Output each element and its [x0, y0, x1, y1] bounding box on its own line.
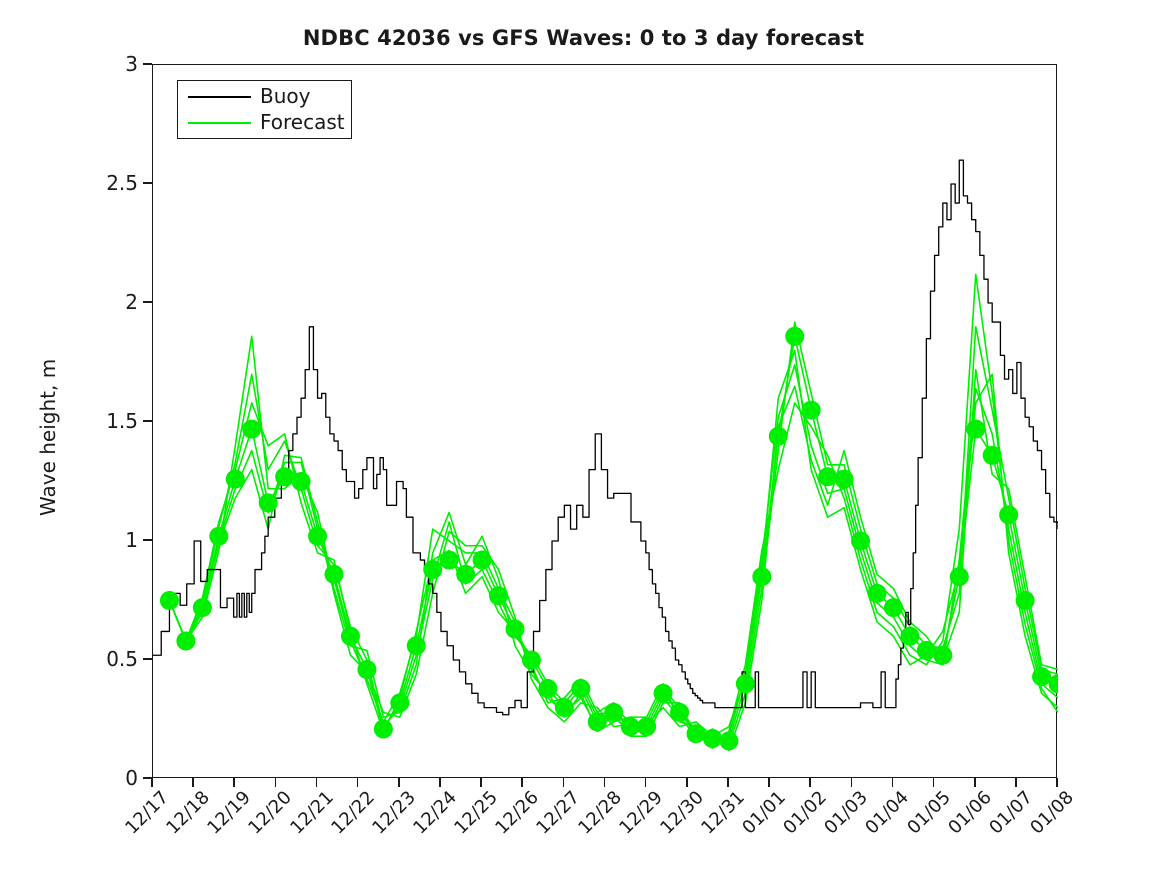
forecast-data-point	[719, 731, 738, 750]
x-tickmark	[1015, 778, 1017, 787]
y-tickmark	[143, 420, 152, 422]
y-tick-label: 1	[78, 528, 138, 552]
forecast-data-point	[736, 674, 755, 693]
x-tickmark	[933, 778, 935, 787]
figure-canvas: NDBC 42036 vs GFS Waves: 0 to 3 day fore…	[0, 0, 1167, 875]
forecast-data-point	[933, 646, 952, 665]
forecast-data-point	[950, 567, 969, 586]
plot-area	[152, 64, 1057, 778]
legend-box: Buoy Forecast	[177, 80, 352, 139]
x-tickmark	[974, 778, 976, 787]
forecast-data-point	[226, 470, 245, 489]
forecast-data-point	[308, 527, 327, 546]
forecast-data-point	[785, 327, 804, 346]
forecast-data-point	[654, 684, 673, 703]
x-tickmark	[604, 778, 606, 787]
x-tickmark	[851, 778, 853, 787]
buoy-series-group	[153, 160, 1058, 715]
y-axis-label: Wave height, m	[36, 359, 60, 516]
forecast-data-point	[176, 631, 195, 650]
legend-swatch-forecast	[188, 122, 251, 124]
forecast-data-point	[687, 724, 706, 743]
forecast-line-path	[169, 365, 1058, 743]
x-tickmark	[398, 778, 400, 787]
forecast-marker-group	[160, 327, 1058, 751]
x-tickmark	[645, 778, 647, 787]
legend-swatch-buoy	[188, 96, 251, 98]
forecast-series-group	[169, 274, 1058, 750]
y-tick-label: 0	[78, 766, 138, 790]
x-tickmark	[727, 778, 729, 787]
x-tickmark	[768, 778, 770, 787]
legend-entry-forecast: Forecast	[178, 110, 353, 136]
y-tick-label: 3	[78, 52, 138, 76]
x-tickmark	[686, 778, 688, 787]
forecast-data-point	[341, 627, 360, 646]
forecast-data-point	[357, 660, 376, 679]
forecast-data-point	[423, 560, 442, 579]
forecast-data-point	[242, 420, 261, 439]
chart-title: NDBC 42036 vs GFS Waves: 0 to 3 day fore…	[0, 26, 1167, 50]
y-tickmark	[143, 539, 152, 541]
forecast-data-point	[604, 703, 623, 722]
forecast-data-point	[440, 551, 459, 570]
forecast-data-point	[325, 565, 344, 584]
forecast-data-point	[374, 720, 393, 739]
forecast-data-point	[769, 427, 788, 446]
forecast-line-path	[169, 336, 1058, 741]
forecast-data-point	[1032, 667, 1051, 686]
forecast-data-point	[621, 717, 640, 736]
x-tickmark	[192, 778, 194, 787]
forecast-data-point	[160, 591, 179, 610]
forecast-data-point	[555, 698, 574, 717]
x-tickmark	[233, 778, 235, 787]
x-tickmark	[892, 778, 894, 787]
forecast-data-point	[983, 446, 1002, 465]
y-tickmark	[143, 658, 152, 660]
forecast-data-point	[637, 717, 656, 736]
forecast-data-point	[209, 527, 228, 546]
y-tickmark	[143, 63, 152, 65]
forecast-data-point	[588, 712, 607, 731]
x-tickmark	[357, 778, 359, 787]
forecast-data-point	[1016, 591, 1035, 610]
x-tickmark	[316, 778, 318, 787]
forecast-data-point	[538, 679, 557, 698]
plot-canvas	[153, 65, 1058, 779]
x-tickmark	[151, 778, 153, 787]
forecast-data-point	[571, 679, 590, 698]
forecast-data-point	[802, 401, 821, 420]
forecast-data-point	[259, 493, 278, 512]
buoy-line-path	[153, 160, 1058, 715]
forecast-line-path	[169, 370, 1058, 751]
forecast-data-point	[407, 636, 426, 655]
forecast-data-point	[703, 729, 722, 748]
forecast-data-point	[884, 598, 903, 617]
forecast-data-point	[670, 703, 689, 722]
y-tickmark	[143, 301, 152, 303]
y-tick-label: 2.5	[78, 171, 138, 195]
forecast-data-point	[456, 565, 475, 584]
forecast-data-point	[292, 472, 311, 491]
forecast-data-point	[193, 598, 212, 617]
forecast-data-point	[999, 505, 1018, 524]
x-tickmark	[1056, 778, 1058, 787]
forecast-data-point	[489, 586, 508, 605]
forecast-data-point	[522, 651, 541, 670]
y-tickmark	[143, 777, 152, 779]
legend-entry-buoy: Buoy	[178, 84, 353, 110]
x-tickmark	[809, 778, 811, 787]
forecast-data-point	[275, 467, 294, 486]
forecast-data-point	[900, 627, 919, 646]
legend-label-forecast: Forecast	[260, 109, 345, 135]
legend-label-buoy: Buoy	[260, 83, 310, 109]
y-tick-label: 2	[78, 290, 138, 314]
forecast-data-point	[917, 641, 936, 660]
forecast-data-point	[752, 567, 771, 586]
x-tickmark	[563, 778, 565, 787]
forecast-data-point	[473, 551, 492, 570]
forecast-data-point	[966, 420, 985, 439]
forecast-line-path	[169, 274, 1058, 748]
forecast-data-point	[868, 584, 887, 603]
forecast-data-point	[506, 620, 525, 639]
x-tickmark	[521, 778, 523, 787]
forecast-data-point	[818, 467, 837, 486]
forecast-data-point	[851, 532, 870, 551]
x-tickmark	[439, 778, 441, 787]
x-tickmark	[480, 778, 482, 787]
forecast-line-path	[169, 322, 1058, 746]
y-tick-label: 1.5	[78, 409, 138, 433]
y-tickmark	[143, 182, 152, 184]
forecast-data-point	[835, 470, 854, 489]
forecast-data-point	[390, 693, 409, 712]
x-tickmark	[275, 778, 277, 787]
y-tick-label: 0.5	[78, 647, 138, 671]
forecast-line-path	[169, 351, 1058, 737]
